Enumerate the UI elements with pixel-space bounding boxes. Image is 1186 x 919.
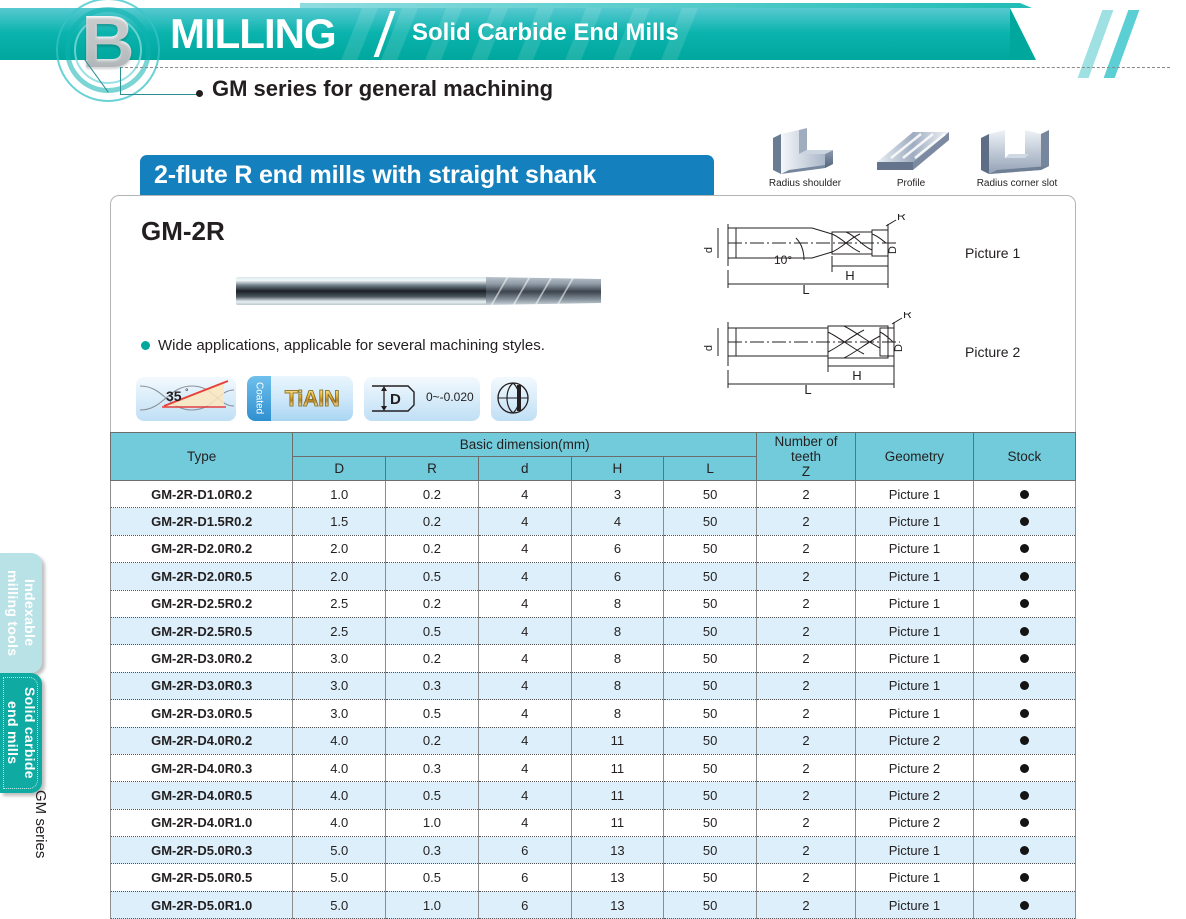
cell-d: 4 xyxy=(478,645,571,672)
header-dim-D: D xyxy=(293,457,386,481)
table-row[interactable]: GM-2R-D1.0R0.21.00.243502Picture 1 xyxy=(111,481,1076,508)
cell-d: 4 xyxy=(478,563,571,590)
application-profile: Profile xyxy=(861,128,961,176)
cell-H: 3 xyxy=(571,481,664,508)
cell-D: 2.0 xyxy=(293,535,386,562)
coating-name: TiAlN xyxy=(285,386,340,412)
header-dim-L: L xyxy=(664,457,757,481)
specification-table: Type Basic dimension(mm) Number of teeth… xyxy=(110,432,1076,919)
cell-D: 4.0 xyxy=(293,782,386,809)
cell-D: 2.0 xyxy=(293,563,386,590)
cell-geometry: Picture 1 xyxy=(856,535,974,562)
cell-geometry: Picture 1 xyxy=(856,508,974,535)
cell-H: 6 xyxy=(571,535,664,562)
application-icons: Radius shoulder Profi xyxy=(755,128,1075,196)
table-row[interactable]: GM-2R-D3.0R0.53.00.548502Picture 1 xyxy=(111,700,1076,727)
table-row[interactable]: GM-2R-D3.0R0.33.00.348502Picture 1 xyxy=(111,672,1076,699)
cell-R: 0.5 xyxy=(386,782,479,809)
application-radius-corner-slot: Radius corner slot xyxy=(967,128,1067,176)
cell-type: GM-2R-D2.0R0.5 xyxy=(111,563,293,590)
cell-R: 0.2 xyxy=(386,645,479,672)
page-header: B MILLING Solid Carbide End Mills GM ser… xyxy=(0,0,1186,66)
cell-type: GM-2R-D2.5R0.5 xyxy=(111,617,293,644)
cell-R: 0.2 xyxy=(386,508,479,535)
cell-L: 50 xyxy=(664,700,757,727)
cell-Z: 2 xyxy=(757,782,856,809)
application-radius-shoulder: Radius shoulder xyxy=(755,128,855,176)
cell-Z: 2 xyxy=(757,891,856,918)
stock-dot-icon xyxy=(1020,709,1029,718)
stock-dot-icon xyxy=(1020,736,1029,745)
cell-d: 4 xyxy=(478,700,571,727)
series-note: GM series for general machining xyxy=(212,76,553,102)
cell-d: 4 xyxy=(478,809,571,836)
cell-geometry: Picture 2 xyxy=(856,754,974,781)
tolerance-badge: D 0~-0.020 xyxy=(364,376,480,421)
section-title-text: 2-flute R end mills with straight shank xyxy=(154,161,596,190)
table-row[interactable]: GM-2R-D5.0R0.55.00.5613502Picture 1 xyxy=(111,864,1076,891)
stock-dot-icon xyxy=(1020,599,1029,608)
cell-D: 1.5 xyxy=(293,508,386,535)
cell-H: 6 xyxy=(571,563,664,590)
cell-D: 4.0 xyxy=(293,754,386,781)
cell-stock xyxy=(973,700,1075,727)
application-profile-label: Profile xyxy=(861,178,961,189)
cell-H: 4 xyxy=(571,508,664,535)
cell-geometry: Picture 1 xyxy=(856,481,974,508)
cell-stock xyxy=(973,563,1075,590)
stock-dot-icon xyxy=(1020,818,1029,827)
table-row[interactable]: GM-2R-D4.0R1.04.01.0411502Picture 2 xyxy=(111,809,1076,836)
cell-L: 50 xyxy=(664,809,757,836)
cell-D: 2.5 xyxy=(293,617,386,644)
cell-type: GM-2R-D3.0R0.3 xyxy=(111,672,293,699)
cell-R: 0.3 xyxy=(386,672,479,699)
table-row[interactable]: GM-2R-D2.5R0.52.50.548502Picture 1 xyxy=(111,617,1076,644)
flute-section-icon xyxy=(491,376,537,421)
cell-type: GM-2R-D5.0R0.5 xyxy=(111,864,293,891)
cell-d: 4 xyxy=(478,481,571,508)
cell-type: GM-2R-D2.5R0.2 xyxy=(111,590,293,617)
cell-H: 8 xyxy=(571,617,664,644)
cell-stock xyxy=(973,617,1075,644)
cell-H: 8 xyxy=(571,645,664,672)
svg-text:°: ° xyxy=(185,387,189,397)
section-title-banner: 2-flute R end mills with straight shank xyxy=(140,155,714,195)
header-teeth: Number of teeth Z xyxy=(757,433,856,481)
header-dim-H: H xyxy=(571,457,664,481)
cell-stock xyxy=(973,481,1075,508)
table-row[interactable]: GM-2R-D1.5R0.21.50.244502Picture 1 xyxy=(111,508,1076,535)
cell-d: 4 xyxy=(478,535,571,562)
cell-type: GM-2R-D5.0R0.3 xyxy=(111,837,293,864)
diameter-tolerance-icon: D xyxy=(364,376,424,421)
cell-Z: 2 xyxy=(757,754,856,781)
cell-H: 13 xyxy=(571,837,664,864)
table-row[interactable]: GM-2R-D2.0R0.52.00.546502Picture 1 xyxy=(111,563,1076,590)
cell-d: 6 xyxy=(478,837,571,864)
bullet-icon xyxy=(141,341,150,350)
cell-stock xyxy=(973,672,1075,699)
table-row[interactable]: GM-2R-D5.0R0.35.00.3613502Picture 1 xyxy=(111,837,1076,864)
cell-type: GM-2R-D3.0R0.2 xyxy=(111,645,293,672)
cell-geometry: Picture 1 xyxy=(856,617,974,644)
header-dim-R: R xyxy=(386,457,479,481)
cell-geometry: Picture 1 xyxy=(856,672,974,699)
cell-R: 0.2 xyxy=(386,481,479,508)
cell-stock xyxy=(973,754,1075,781)
cell-R: 0.5 xyxy=(386,864,479,891)
cell-H: 8 xyxy=(571,590,664,617)
cell-R: 1.0 xyxy=(386,891,479,918)
header-dim-d: d xyxy=(478,457,571,481)
feature-text: Wide applications, applicable for severa… xyxy=(158,337,545,354)
cell-geometry: Picture 1 xyxy=(856,837,974,864)
drawing-picture-2: d D R H L xyxy=(700,312,950,407)
cell-L: 50 xyxy=(664,837,757,864)
cell-L: 50 xyxy=(664,617,757,644)
cell-H: 13 xyxy=(571,891,664,918)
cell-R: 0.3 xyxy=(386,837,479,864)
cell-H: 8 xyxy=(571,672,664,699)
header-dashed-rule xyxy=(120,67,1170,68)
dim-R-label: R xyxy=(897,214,906,223)
application-radius-corner-slot-label: Radius corner slot xyxy=(967,178,1067,189)
cell-type: GM-2R-D1.5R0.2 xyxy=(111,508,293,535)
cell-Z: 2 xyxy=(757,563,856,590)
header-stock: Stock xyxy=(973,433,1075,481)
cell-stock xyxy=(973,809,1075,836)
cell-geometry: Picture 1 xyxy=(856,563,974,590)
cell-L: 50 xyxy=(664,754,757,781)
table-row[interactable]: GM-2R-D4.0R0.54.00.5411502Picture 2 xyxy=(111,782,1076,809)
tolerance-value: 0~-0.020 xyxy=(426,390,474,404)
stock-dot-icon xyxy=(1020,791,1029,800)
cell-Z: 2 xyxy=(757,590,856,617)
table-row[interactable]: GM-2R-D2.5R0.22.50.248502Picture 1 xyxy=(111,590,1076,617)
stock-dot-icon xyxy=(1020,901,1029,910)
application-radius-shoulder-label: Radius shoulder xyxy=(755,178,855,189)
cell-Z: 2 xyxy=(757,864,856,891)
cell-geometry: Picture 1 xyxy=(856,891,974,918)
cell-R: 0.2 xyxy=(386,535,479,562)
cell-stock xyxy=(973,508,1075,535)
stock-dot-icon xyxy=(1020,572,1029,581)
stock-dot-icon xyxy=(1020,627,1029,636)
drawing-picture-1: d D R H L 10° xyxy=(700,214,950,309)
cell-L: 50 xyxy=(664,727,757,754)
stock-dot-icon xyxy=(1020,764,1029,773)
coated-label: Coated xyxy=(247,376,271,421)
sidebar-tab-indexable-milling-tools[interactable]: Indexablemilling tools xyxy=(0,553,42,673)
table-row[interactable]: GM-2R-D2.0R0.22.00.246502Picture 1 xyxy=(111,535,1076,562)
series-leader-dot xyxy=(196,90,203,97)
product-photo xyxy=(236,271,601,311)
table-row[interactable]: GM-2R-D5.0R1.05.01.0613502Picture 1 xyxy=(111,891,1076,918)
dim-d-label: d xyxy=(703,247,715,253)
cell-type: GM-2R-D3.0R0.5 xyxy=(111,700,293,727)
cell-H: 8 xyxy=(571,700,664,727)
cell-geometry: Picture 2 xyxy=(856,782,974,809)
cell-D: 4.0 xyxy=(293,809,386,836)
header-teeth-l1: Number of xyxy=(775,434,838,449)
stock-dot-icon xyxy=(1020,654,1029,663)
sidebar-tab-solid-carbide-label: Solid carbideend mills xyxy=(0,673,42,793)
cell-geometry: Picture 1 xyxy=(856,864,974,891)
flute-section-badge xyxy=(491,376,537,421)
helix-angle-badge: 35 ° xyxy=(136,376,236,421)
cell-Z: 2 xyxy=(757,617,856,644)
table-row[interactable]: GM-2R-D3.0R0.23.00.248502Picture 1 xyxy=(111,645,1076,672)
cell-Z: 2 xyxy=(757,481,856,508)
cell-type: GM-2R-D4.0R1.0 xyxy=(111,809,293,836)
cell-L: 50 xyxy=(664,590,757,617)
cell-d: 4 xyxy=(478,617,571,644)
cell-R: 0.3 xyxy=(386,754,479,781)
cell-type: GM-2R-D4.0R0.2 xyxy=(111,727,293,754)
coating-badge: Coated TiAlN xyxy=(247,376,353,421)
sidebar-series-label: GM series xyxy=(32,790,49,858)
cell-L: 50 xyxy=(664,891,757,918)
cell-R: 1.0 xyxy=(386,809,479,836)
cell-Z: 2 xyxy=(757,727,856,754)
drawing-2-caption: Picture 2 xyxy=(965,344,1020,360)
cell-stock xyxy=(973,727,1075,754)
cell-Z: 2 xyxy=(757,535,856,562)
cell-R: 0.5 xyxy=(386,563,479,590)
table-header-row-1: Type Basic dimension(mm) Number of teeth… xyxy=(111,433,1076,457)
header-teeth-l2: teeth xyxy=(791,449,821,464)
cell-R: 0.2 xyxy=(386,590,479,617)
stock-dot-icon xyxy=(1020,846,1029,855)
cell-stock xyxy=(973,645,1075,672)
cell-d: 4 xyxy=(478,508,571,535)
cell-d: 4 xyxy=(478,590,571,617)
stock-dot-icon xyxy=(1020,681,1029,690)
cell-stock xyxy=(973,535,1075,562)
feature-line: Wide applications, applicable for severa… xyxy=(141,337,545,354)
cell-d: 4 xyxy=(478,727,571,754)
coated-band: Coated xyxy=(247,376,271,421)
cell-D: 5.0 xyxy=(293,864,386,891)
cell-D: 3.0 xyxy=(293,700,386,727)
cell-Z: 2 xyxy=(757,672,856,699)
cell-type: GM-2R-D4.0R0.3 xyxy=(111,754,293,781)
cell-d: 6 xyxy=(478,864,571,891)
cell-L: 50 xyxy=(664,864,757,891)
series-leader-elbow xyxy=(120,67,200,95)
dim-angle-label: 10° xyxy=(774,253,792,267)
radius-shoulder-icon xyxy=(755,128,855,176)
cell-L: 50 xyxy=(664,645,757,672)
cell-H: 11 xyxy=(571,809,664,836)
svg-text:35: 35 xyxy=(166,388,182,404)
cell-type: GM-2R-D1.0R0.2 xyxy=(111,481,293,508)
header-category: MILLING xyxy=(170,10,336,58)
cell-d: 4 xyxy=(478,754,571,781)
dim-D-label: D xyxy=(893,344,905,352)
profile-icon xyxy=(861,128,961,176)
cell-type: GM-2R-D2.0R0.2 xyxy=(111,535,293,562)
cell-d: 4 xyxy=(478,782,571,809)
header-teeth-l3: Z xyxy=(802,464,810,479)
sidebar-tab-indexable-label: Indexablemilling tools xyxy=(0,553,42,673)
coating-name-wrap: TiAlN xyxy=(271,376,353,421)
cell-stock xyxy=(973,864,1075,891)
stock-dot-icon xyxy=(1020,544,1029,553)
cell-Z: 2 xyxy=(757,809,856,836)
dim-R-label: R xyxy=(903,312,912,321)
cell-D: 3.0 xyxy=(293,645,386,672)
cell-geometry: Picture 2 xyxy=(856,809,974,836)
cell-L: 50 xyxy=(664,563,757,590)
table-body: GM-2R-D1.0R0.21.00.243502Picture 1GM-2R-… xyxy=(111,481,1076,919)
header-geometry: Geometry xyxy=(856,433,974,481)
stock-dot-icon xyxy=(1020,490,1029,499)
tool-flutes xyxy=(486,277,601,305)
table-row[interactable]: GM-2R-D4.0R0.24.00.2411502Picture 2 xyxy=(111,727,1076,754)
header-basic-dimension: Basic dimension(mm) xyxy=(293,433,757,457)
cell-type: GM-2R-D5.0R1.0 xyxy=(111,891,293,918)
dim-D-label: D xyxy=(887,246,899,254)
cell-D: 5.0 xyxy=(293,891,386,918)
cell-geometry: Picture 1 xyxy=(856,645,974,672)
sidebar-tab-solid-carbide-end-mills[interactable]: Solid carbideend mills xyxy=(0,673,42,793)
cell-stock xyxy=(973,891,1075,918)
drawing-1-caption: Picture 1 xyxy=(965,245,1020,261)
feature-badges: 35 ° Coated TiAlN D 0~-0.020 xyxy=(136,376,537,421)
cell-H: 11 xyxy=(571,782,664,809)
dim-L-label: L xyxy=(804,382,811,397)
cell-geometry: Picture 2 xyxy=(856,727,974,754)
stock-dot-icon xyxy=(1020,517,1029,526)
cell-stock xyxy=(973,837,1075,864)
radius-corner-slot-icon xyxy=(967,128,1067,176)
cell-R: 0.5 xyxy=(386,617,479,644)
stock-dot-icon xyxy=(1020,873,1029,882)
dim-d-label: d xyxy=(703,345,715,351)
cell-D: 3.0 xyxy=(293,672,386,699)
cell-stock xyxy=(973,782,1075,809)
cell-L: 50 xyxy=(664,535,757,562)
tool-shank xyxy=(236,277,491,305)
cell-H: 11 xyxy=(571,754,664,781)
cell-D: 1.0 xyxy=(293,481,386,508)
cell-L: 50 xyxy=(664,782,757,809)
cell-Z: 2 xyxy=(757,645,856,672)
cell-L: 50 xyxy=(664,672,757,699)
cell-Z: 2 xyxy=(757,700,856,727)
cell-L: 50 xyxy=(664,481,757,508)
cell-D: 2.5 xyxy=(293,590,386,617)
cell-stock xyxy=(973,590,1075,617)
cell-L: 50 xyxy=(664,508,757,535)
cell-Z: 2 xyxy=(757,837,856,864)
cell-Z: 2 xyxy=(757,508,856,535)
svg-text:D: D xyxy=(390,391,401,408)
table-row[interactable]: GM-2R-D4.0R0.34.00.3411502Picture 2 xyxy=(111,754,1076,781)
dim-H-label: H xyxy=(845,268,854,283)
cell-d: 6 xyxy=(478,891,571,918)
header-subtitle: Solid Carbide End Mills xyxy=(412,18,679,48)
dim-H-label: H xyxy=(852,368,861,383)
cell-D: 4.0 xyxy=(293,727,386,754)
header-type: Type xyxy=(111,433,293,481)
cell-D: 5.0 xyxy=(293,837,386,864)
cell-geometry: Picture 1 xyxy=(856,700,974,727)
cell-R: 0.5 xyxy=(386,700,479,727)
cell-H: 11 xyxy=(571,727,664,754)
cell-H: 13 xyxy=(571,864,664,891)
dim-L-label: L xyxy=(802,282,809,297)
cell-geometry: Picture 1 xyxy=(856,590,974,617)
cell-R: 0.2 xyxy=(386,727,479,754)
cell-type: GM-2R-D4.0R0.5 xyxy=(111,782,293,809)
product-model: GM-2R xyxy=(141,216,225,247)
cell-d: 4 xyxy=(478,672,571,699)
